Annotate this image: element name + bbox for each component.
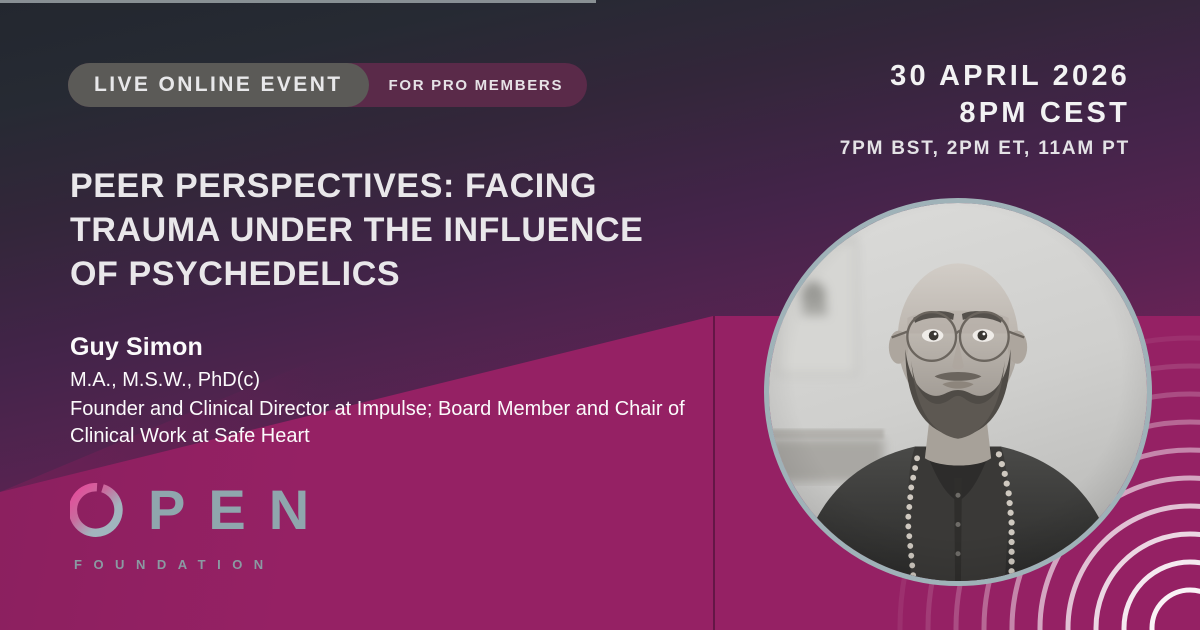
speaker-portrait	[764, 198, 1152, 586]
event-banner: LIVE ONLINE EVENT FOR PRO MEMBERS 30 APR…	[0, 0, 1200, 630]
logo-wordmark-row: PEN	[70, 482, 332, 538]
speaker-credentials: M.A., M.S.W., PhD(c)	[70, 367, 690, 393]
speaker-role: Founder and Clinical Director at Impulse…	[70, 396, 690, 449]
speaker-name: Guy Simon	[70, 333, 690, 362]
top-hairline-rule	[0, 0, 596, 3]
event-alt-timezones: 7PM BST, 2PM ET, 11AM PT	[840, 138, 1130, 160]
speaker-block: Guy Simon M.A., M.S.W., PhD(c) Founder a…	[70, 333, 690, 449]
event-title: Peer Perspectives: Facing Trauma Under t…	[70, 164, 690, 297]
logo-wordmark-text: PEN	[148, 482, 332, 538]
badge-sub-label: FOR PRO MEMBERS	[369, 77, 564, 94]
event-date: 30 APRIL 2026	[840, 58, 1130, 95]
event-date-block: 30 APRIL 2026 8PM CEST 7PM BST, 2PM ET, …	[840, 58, 1130, 160]
logo-tagline: FOUNDATION	[74, 557, 332, 572]
event-type-badge: LIVE ONLINE EVENT FOR PRO MEMBERS	[68, 63, 587, 107]
slab-seam-line	[713, 316, 715, 630]
badge-pill-label: LIVE ONLINE EVENT	[68, 63, 369, 107]
event-time: 8PM CEST	[840, 95, 1130, 132]
open-ring-icon	[70, 483, 124, 537]
open-foundation-logo: PEN FOUNDATION	[70, 482, 332, 572]
